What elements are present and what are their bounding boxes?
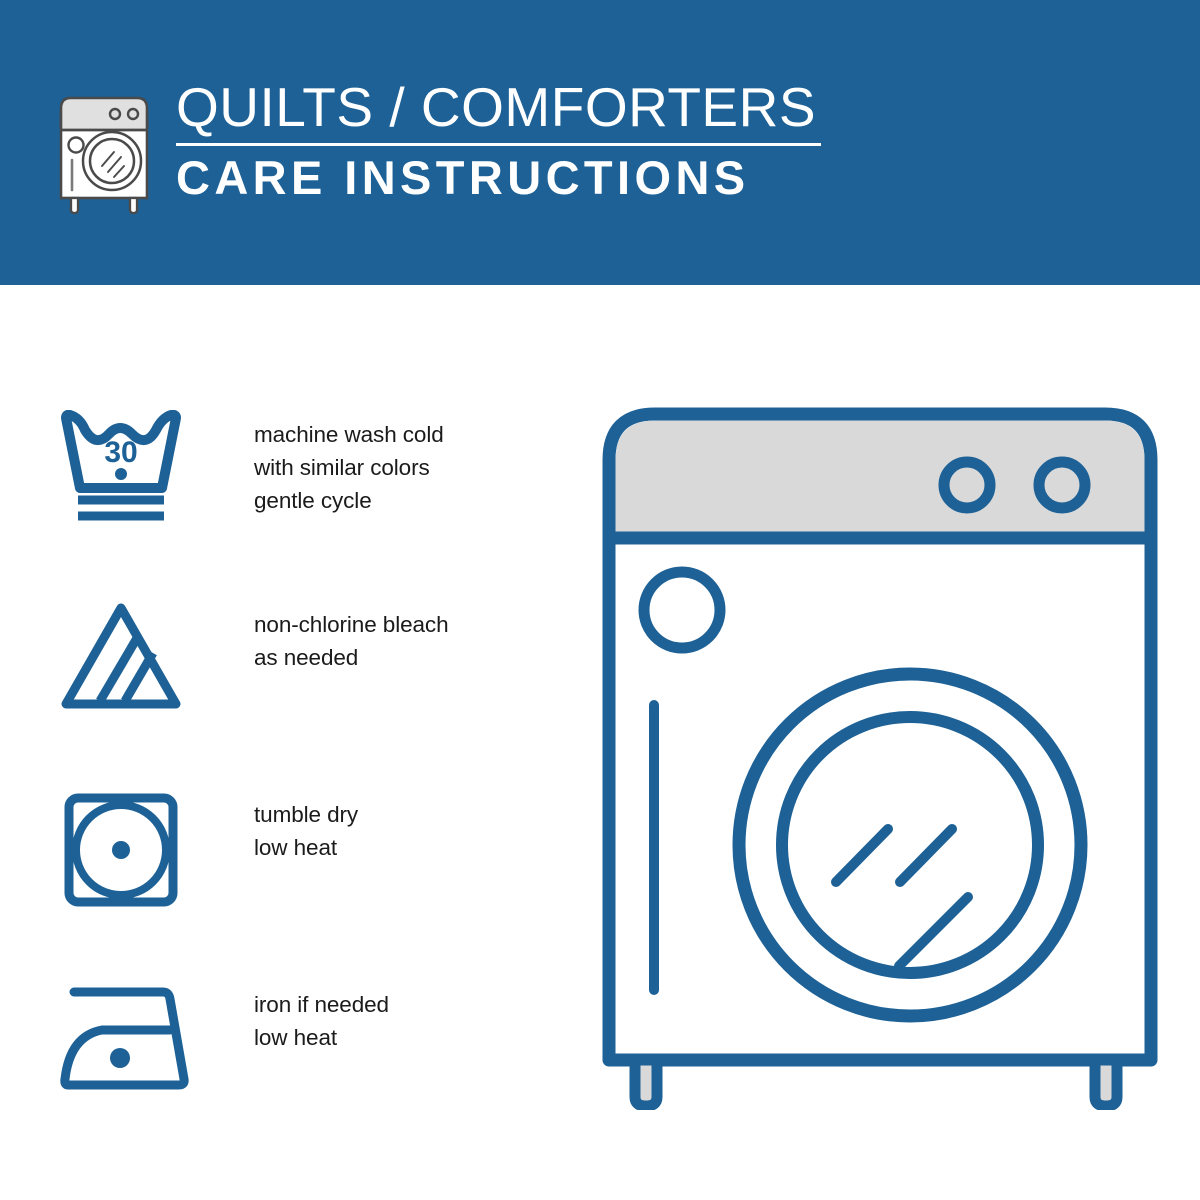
front-load-washing-machine-illustration [600,405,1160,1110]
page-header: QUILTS / COMFORTERS CARE INSTRUCTIONS [0,0,1200,285]
page-subtitle: CARE INSTRUCTIONS [176,152,821,204]
care-row-wash: 30 machine wash cold with similar colors… [58,410,528,600]
care-line: machine wash cold [254,418,444,451]
control-panel [616,421,1145,539]
tumble-dry-low-icon [58,790,192,910]
care-line: low heat [254,831,358,864]
tumble-dry-heat-dot [112,841,130,859]
care-text-iron: iron if needed low heat [254,980,389,1054]
title-divider [176,143,821,146]
header-content: QUILTS / COMFORTERS CARE INSTRUCTIONS [52,78,821,214]
washer-leg [635,1060,657,1106]
wash-tub-30-icon: 30 [58,410,192,530]
iron-heat-dot [110,1048,130,1068]
care-text-tumble-dry: tumble dry low heat [254,790,358,864]
care-row-iron: iron if needed low heat [58,980,528,1170]
care-row-tumble-dry: tumble dry low heat [58,790,528,980]
header-title-group: QUILTS / COMFORTERS CARE INSTRUCTIONS [176,78,821,204]
care-text-wash: machine wash cold with similar colors ge… [254,410,444,517]
care-line: as needed [254,641,448,674]
care-row-bleach: non-chlorine bleach as needed [58,600,528,790]
care-line: low heat [254,1021,389,1054]
bleach-triangle-icon [58,600,192,720]
care-instruction-list: 30 machine wash cold with similar colors… [58,410,528,1170]
care-line: iron if needed [254,988,389,1021]
page-body: 30 machine wash cold with similar colors… [0,285,1200,1200]
wash-heat-dot [115,468,127,480]
washer-leg [1095,1060,1117,1106]
care-line: with similar colors [254,451,444,484]
page-title: QUILTS / COMFORTERS [176,78,821,136]
iron-low-heat-icon [58,980,192,1100]
care-line: tumble dry [254,798,358,831]
care-text-bleach: non-chlorine bleach as needed [254,600,448,674]
care-line: non-chlorine bleach [254,608,448,641]
washing-machine-icon [52,82,156,214]
wash-temperature-label: 30 [104,436,137,469]
care-line: gentle cycle [254,484,444,517]
